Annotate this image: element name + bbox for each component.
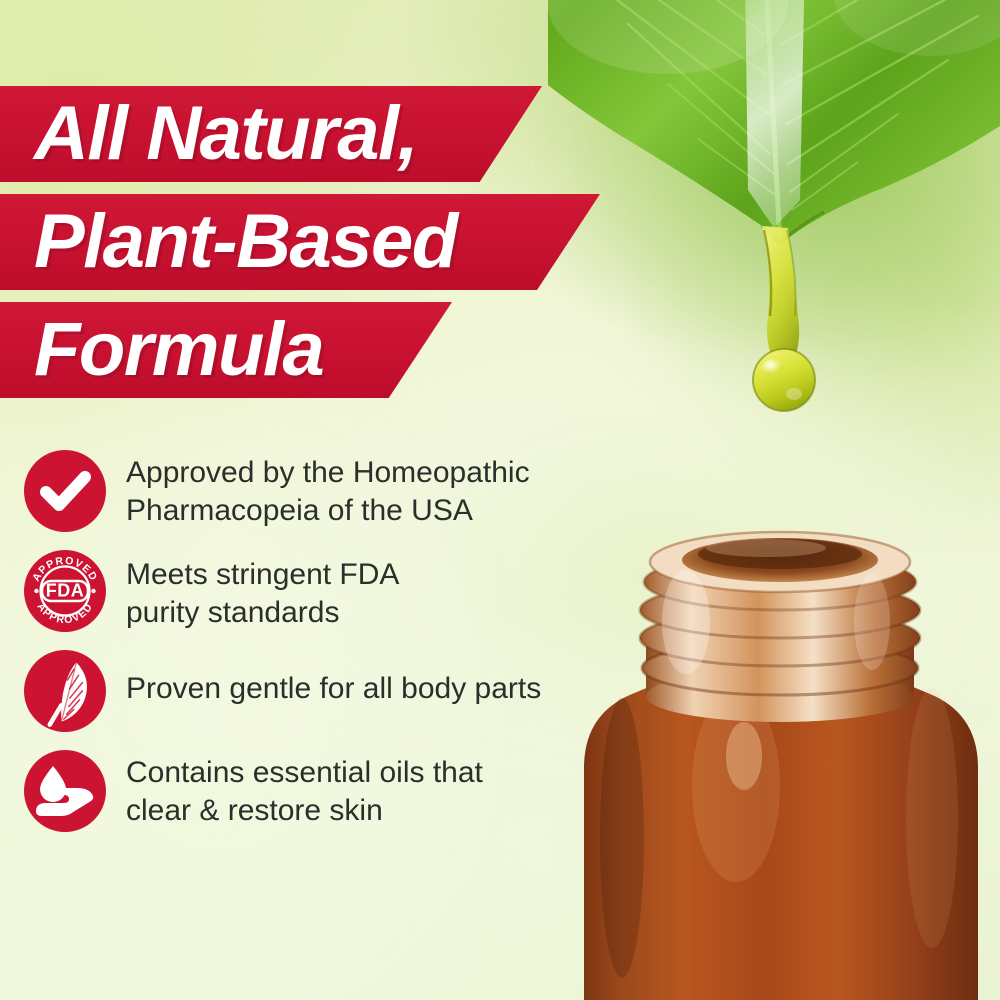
feature-text-line: clear & restore skin [126,792,483,830]
headline-line-2: Plant-Based [0,204,457,280]
fda-approved-seal-icon: FDA APPROVED APPROVED [22,548,108,634]
headline-block: All Natural, Plant-Based Formula [0,86,660,410]
feature-text-line: Meets stringent FDA [126,556,399,594]
check-circle-icon [22,448,108,534]
feature-text-line: Contains essential oils that [126,754,483,792]
feature-list: Approved by the Homeopathic Pharmacopeia… [22,448,662,848]
feature-text-line: Proven gentle for all body parts [126,670,541,708]
headline-line-3: Formula [0,312,323,388]
feature-item-gentle: Proven gentle for all body parts [22,648,662,734]
headline-banner-2: Plant-Based [0,194,660,290]
feature-text-gentle: Proven gentle for all body parts [126,648,541,708]
headline-line-1: All Natural, [0,96,417,172]
feature-text-line: Pharmacopeia of the USA [126,492,530,530]
feature-text-line: purity standards [126,594,399,632]
headline-banner-1: All Natural, [0,86,660,182]
product-feature-poster: All Natural, Plant-Based Formula Approve… [0,0,1000,1000]
droplet-on-hand-icon [22,748,108,834]
feature-text-line: Approved by the Homeopathic [126,454,530,492]
feature-item-essential-oils: Contains essential oils that clear & res… [22,748,662,834]
feature-text-essential-oils: Contains essential oils that clear & res… [126,748,483,831]
feature-item-homeopathic: Approved by the Homeopathic Pharmacopeia… [22,448,662,534]
feature-text-fda: Meets stringent FDA purity standards [126,548,399,633]
feather-icon [22,648,108,734]
feature-item-fda: FDA APPROVED APPROVED Meets stringent FD… [22,548,662,634]
feature-text-homeopathic: Approved by the Homeopathic Pharmacopeia… [126,448,530,531]
fda-seal-center-text: FDA [46,581,85,601]
headline-banner-3: Formula [0,302,660,398]
